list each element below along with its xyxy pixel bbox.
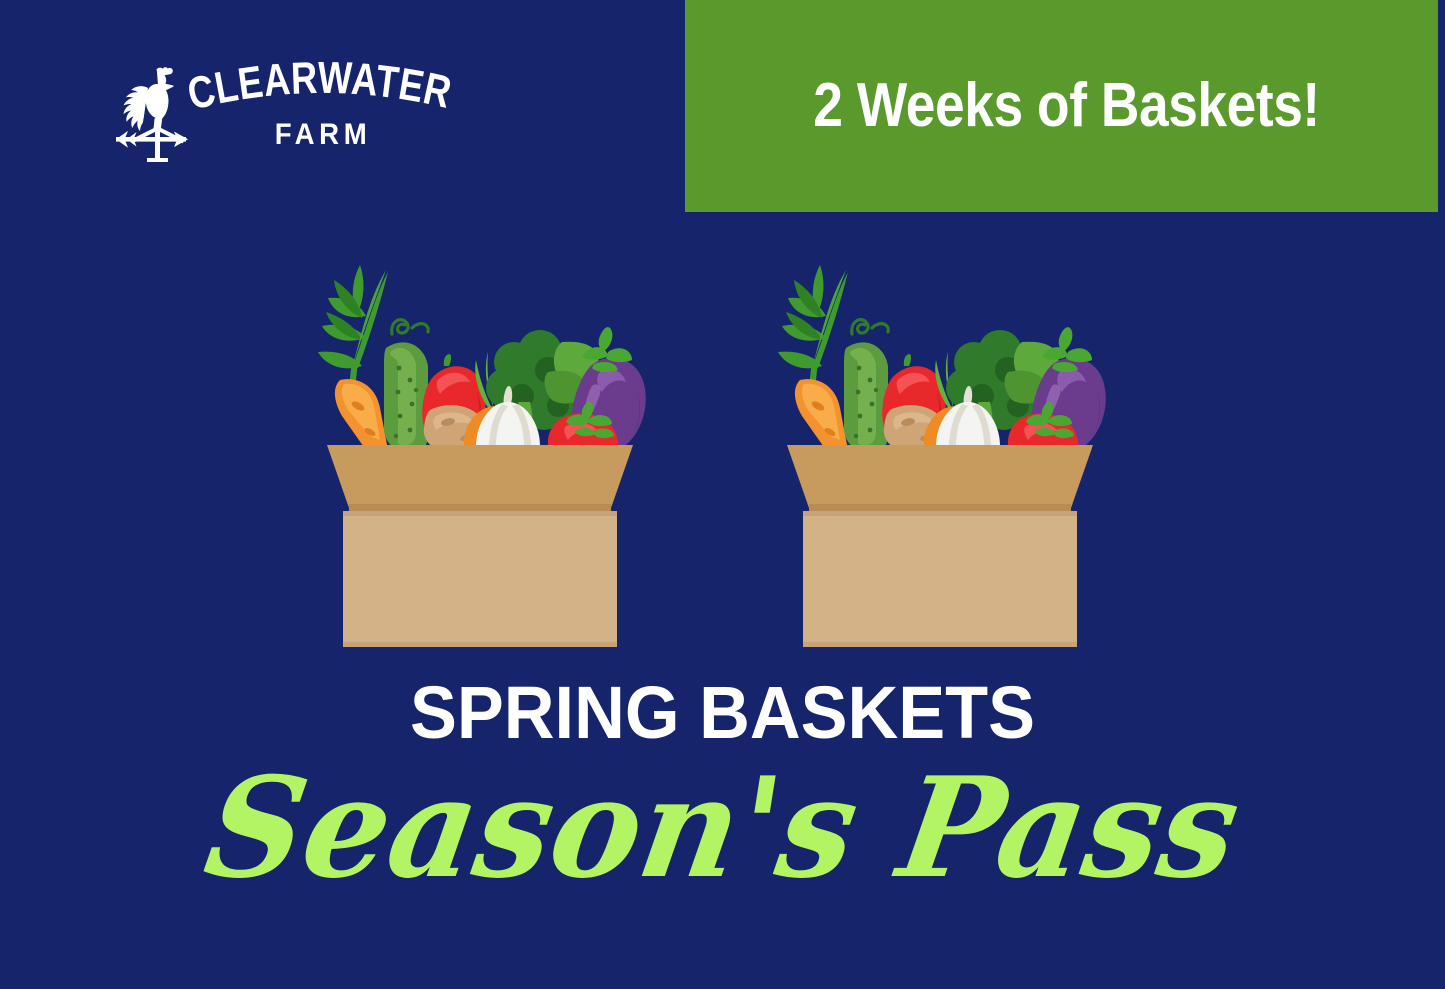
product-title: SPRING BASKETS bbox=[36, 676, 1409, 750]
promo-banner: 2 Weeks of Baskets! bbox=[685, 0, 1438, 212]
svg-text:CLEARWATER: CLEARWATER bbox=[188, 62, 456, 118]
vegetable-baskets-illustration bbox=[0, 240, 1445, 660]
promo-banner-label: 2 Weeks of Baskets! bbox=[813, 75, 1320, 137]
vegetable-basket-2 bbox=[760, 240, 1120, 660]
brand-logo: CLEARWATER FARM bbox=[112, 58, 457, 168]
rooster-weathervane-icon bbox=[112, 62, 190, 162]
vegetable-basket-1 bbox=[300, 240, 660, 660]
product-card: 2 Weeks of Baskets! bbox=[0, 0, 1445, 989]
logo-brand-secondary: FARM bbox=[199, 120, 447, 150]
logo-brand-primary-text: CLEARWATER bbox=[188, 62, 456, 118]
product-subtitle-script: Season's Pass bbox=[10, 756, 1435, 901]
logo-brand-primary: CLEARWATER bbox=[188, 62, 458, 118]
logo-wordmark: CLEARWATER FARM bbox=[188, 58, 458, 168]
